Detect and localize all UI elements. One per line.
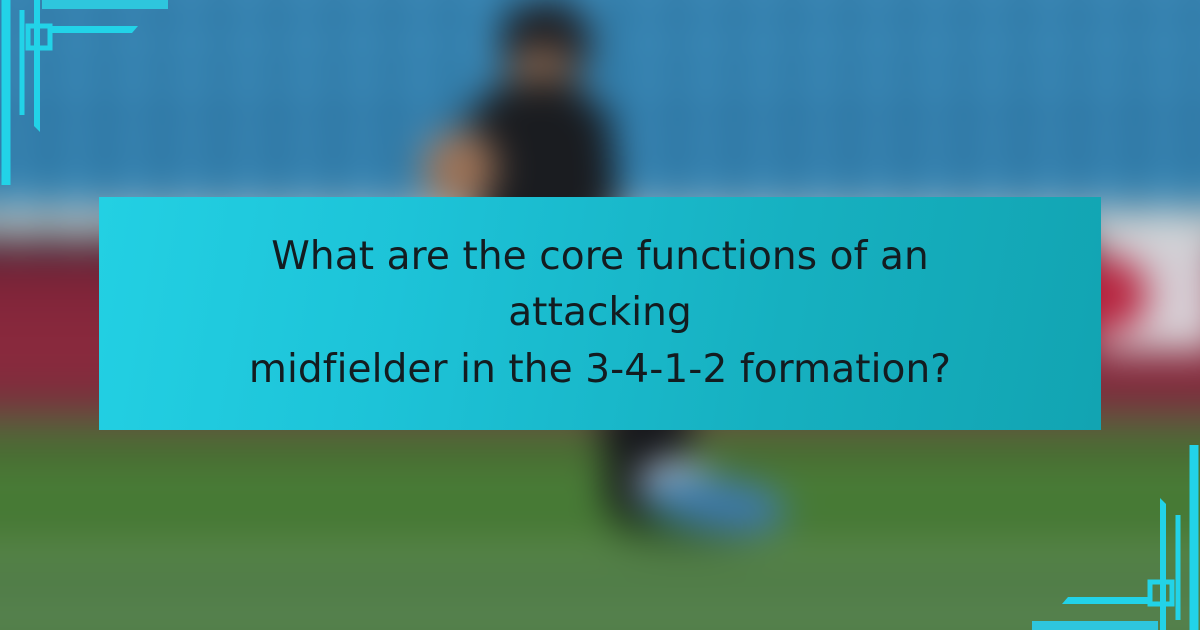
horizontal-rule: [52, 26, 138, 33]
page-title: What are the core functions of an attack…: [200, 229, 1000, 397]
edge-bar: [1032, 621, 1158, 630]
edge-bar: [42, 0, 168, 9]
horizontal-rule: [1062, 597, 1148, 604]
headline-line-2: midfielder in the 3-4-1-2 formation?: [249, 347, 951, 392]
corner-frame-bottom-right: [1000, 490, 1200, 630]
headline-banner: What are the core functions of an attack…: [99, 197, 1101, 430]
inner-vertical-rule: [1160, 498, 1166, 630]
social-card: What are the core functions of an attack…: [0, 0, 1200, 630]
inner-vertical-rule: [34, 0, 40, 132]
headline-line-1: What are the core functions of an attack…: [271, 234, 929, 335]
corner-frame-top-left: [0, 0, 200, 140]
